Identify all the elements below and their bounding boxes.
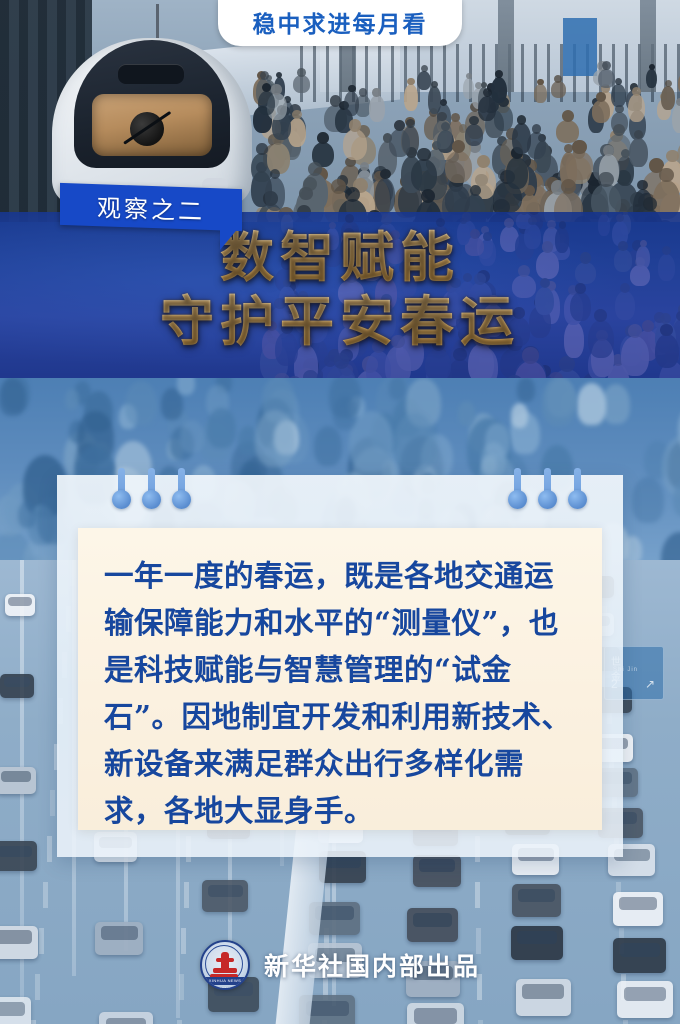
binder-pin-head <box>142 490 161 509</box>
note-paragraph: 一年一度的春运，既是各地交通运输保障能力和水平的“测量仪”，也是科技赋能与智慧管… <box>104 552 582 834</box>
binder-pin-head <box>172 490 191 509</box>
crowd-silhouette <box>394 413 435 471</box>
main-title: 数智赋能 守护平安春运 <box>0 226 680 352</box>
crowd-person <box>417 71 431 91</box>
vehicle <box>512 884 562 917</box>
crowd-silhouette <box>125 381 157 426</box>
crowd-person <box>512 123 531 154</box>
crowd-silhouette <box>542 378 577 426</box>
crowd-person-head <box>394 120 405 131</box>
crowd-person-head <box>440 99 447 106</box>
crowd-person <box>265 177 285 211</box>
crowd-person <box>629 138 648 167</box>
lane-marking <box>475 882 480 908</box>
crowd-person <box>404 84 418 111</box>
vehicle <box>0 674 34 698</box>
crowd-person-head <box>564 144 573 153</box>
crowd-person-head <box>380 169 391 180</box>
crowd-person-head <box>460 218 466 224</box>
note-card-text: 一年一度的春运，既是各地交通运输保障能力和水平的“测量仪”，也是科技赋能与智慧管… <box>104 552 582 834</box>
crowd-person-head <box>308 162 322 176</box>
vehicle <box>0 767 36 794</box>
vehicle <box>407 1003 464 1024</box>
crowd-person-head <box>421 65 428 72</box>
crowd-person <box>551 81 566 98</box>
vehicle <box>5 594 36 615</box>
lane-marking <box>177 1020 182 1024</box>
crowd-silhouette <box>329 378 361 418</box>
crowd-silhouette <box>180 420 204 453</box>
lane-marking <box>31 1020 36 1024</box>
crowd-person <box>366 351 390 380</box>
lane-marking <box>623 1020 628 1024</box>
crowd-silhouette <box>65 389 79 410</box>
crowd-silhouette <box>0 378 26 416</box>
crowd-person <box>389 129 410 157</box>
lane-marking <box>478 1020 483 1024</box>
crowd-person <box>628 94 645 122</box>
binder-pin-head <box>112 490 131 509</box>
crowd-person-head <box>417 148 430 161</box>
crowd-person-head <box>676 98 680 106</box>
crowd-person <box>267 143 290 174</box>
observation-tag-tail <box>220 226 240 250</box>
crowd-person-head <box>372 88 380 96</box>
crowd-person-head <box>299 187 312 200</box>
vehicle <box>613 892 663 926</box>
seal-tower-emblem <box>221 952 229 972</box>
binder-pins-left <box>116 468 316 528</box>
crowd-person-head <box>665 80 672 87</box>
crowd-person <box>598 69 615 88</box>
vehicle <box>99 1012 152 1024</box>
crowd-person <box>445 185 470 215</box>
crowd-person-head <box>421 189 435 203</box>
vehicle <box>202 880 248 911</box>
poster-root: 观察之二 数智赋能 守护平安春运 世 金 Shi Jin 2 ↗ 稳中求进每月看… <box>0 0 680 1024</box>
crowd-person-head <box>470 185 481 196</box>
vehicle <box>413 855 461 887</box>
binder-pin-head <box>538 490 557 509</box>
lane-marking <box>47 836 52 862</box>
crowd-person <box>375 178 395 213</box>
crowd-person <box>411 159 437 191</box>
crowd-person-head <box>256 143 268 155</box>
crowd-silhouette <box>517 378 535 402</box>
series-title-pill[interactable]: 稳中求进每月看 <box>218 0 462 46</box>
crowd-silhouette <box>511 403 529 428</box>
crowd-person-head <box>528 217 536 225</box>
crowd-person-head <box>632 87 641 96</box>
train-vent <box>118 64 184 84</box>
crowd-person-head <box>643 197 657 211</box>
crowd-person <box>465 124 483 146</box>
crowd-person <box>506 157 528 189</box>
crowd-person-head <box>334 353 349 368</box>
crowd-person-head <box>381 214 391 224</box>
crowd-person-head <box>359 88 367 96</box>
crowd-person-head <box>349 119 361 131</box>
crowd-person-head <box>554 75 562 83</box>
crowd-person-head <box>598 172 613 187</box>
crowd-person <box>592 100 611 123</box>
crowd-silhouette <box>314 426 343 466</box>
crowd-person <box>534 84 547 103</box>
crowd-person <box>611 84 625 107</box>
crowd-person-head <box>659 168 673 182</box>
crowd-person <box>343 129 367 159</box>
crowd-silhouette <box>481 442 507 478</box>
crowd-person-head <box>451 113 460 122</box>
crowd-person-head <box>666 150 678 162</box>
crowd-person-head <box>517 115 527 125</box>
observation-tag-label: 观察之二 <box>60 183 242 231</box>
crowd-person <box>293 75 310 93</box>
crowd-person-head <box>615 78 622 85</box>
crowd-silhouette <box>18 501 37 528</box>
binder-pin-head <box>568 490 587 509</box>
vehicle <box>0 841 37 871</box>
publisher-label: 新华社国内部出品 <box>264 947 480 983</box>
crowd-person-head <box>431 81 438 88</box>
crowd-person <box>646 69 657 88</box>
crowd-person-head <box>469 116 478 125</box>
crowd-person <box>369 95 385 122</box>
main-title-line-1: 数智赋能 <box>0 226 680 288</box>
crowd-person <box>445 151 471 183</box>
crowd-person-head <box>348 85 356 93</box>
crowd-silhouette <box>577 383 606 425</box>
series-title-label: 稳中求进每月看 <box>253 5 428 39</box>
crowd-person <box>566 151 593 179</box>
crowd-person <box>425 349 451 380</box>
crowd-person-head <box>297 68 306 77</box>
crowd-person-head <box>561 179 576 194</box>
crowd-person-head <box>649 64 655 70</box>
crowd-person-head <box>406 119 415 128</box>
footer: XINHUA NEWS AGENCY 新华社国内部出品 <box>0 938 680 992</box>
crowd-silhouette <box>389 378 406 400</box>
vehicle <box>0 997 31 1024</box>
xinhua-seal-icon: XINHUA NEWS AGENCY <box>200 940 250 990</box>
crowd-silhouette <box>255 410 295 467</box>
crowd-person-head <box>331 179 346 194</box>
crowd-person-head <box>466 73 472 79</box>
crowd-person-head <box>572 140 586 154</box>
crowd-person <box>258 91 275 115</box>
binder-pin-head <box>508 490 527 509</box>
lane-marking <box>50 790 55 816</box>
crowd-of-travelers <box>250 60 680 222</box>
lane-marking <box>184 882 189 908</box>
high-speed-train <box>52 38 252 206</box>
seal-band: XINHUA NEWS AGENCY <box>202 977 248 985</box>
lane-marking <box>43 882 48 908</box>
crowd-person <box>478 96 496 121</box>
crowd-person <box>672 104 680 133</box>
crowd-person-head <box>596 92 606 102</box>
crowd-person <box>433 120 452 149</box>
crowd-person <box>344 91 359 116</box>
main-title-line-2: 守护平安春运 <box>0 290 680 352</box>
crowd-person-head <box>559 356 575 372</box>
crowd-person-head <box>317 132 329 144</box>
crowd-person-head <box>271 84 282 95</box>
crowd-person <box>661 86 675 110</box>
crowd-person-head <box>292 110 301 119</box>
sign-arrow-icon: ↗ <box>645 677 655 691</box>
crowd-silhouette <box>207 408 235 448</box>
observation-tag: 观察之二 <box>60 183 242 231</box>
crowd-person-head <box>603 145 613 155</box>
seal-band-caption: XINHUA NEWS AGENCY <box>202 977 248 985</box>
crowd-silhouette <box>177 378 195 395</box>
binder-pins-right <box>512 468 680 528</box>
crowd-silhouette <box>602 384 630 424</box>
crowd-person <box>463 78 474 99</box>
crowd-silhouette <box>458 401 475 425</box>
